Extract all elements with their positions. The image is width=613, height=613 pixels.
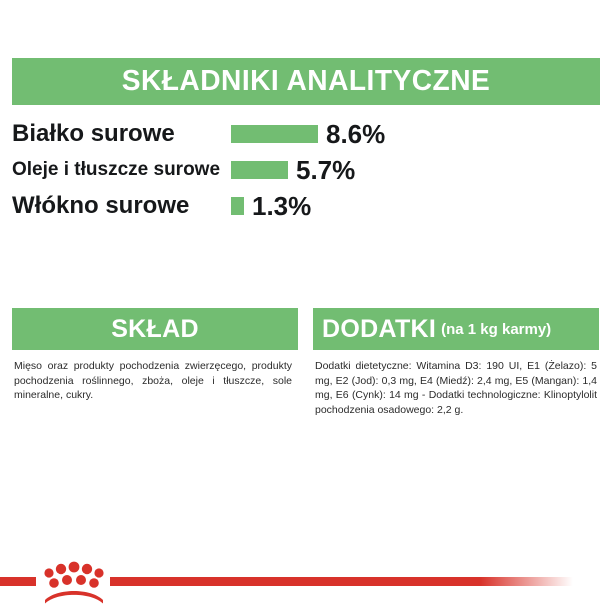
chart-row: Włókno surowe 1.3% xyxy=(12,190,600,226)
royal-canin-crown-icon xyxy=(41,560,107,604)
chart-value-label: 1.3% xyxy=(252,193,311,219)
composition-panel-title: SKŁAD xyxy=(111,315,199,344)
additives-panel-title: DODATKI xyxy=(322,315,436,344)
nutrition-info-panel: SKŁADNIKI ANALITYCZNE Białko surowe 8.6%… xyxy=(0,0,613,613)
chart-value-label: 5.7% xyxy=(296,157,355,183)
analytical-constituents-banner: SKŁADNIKI ANALITYCZNE xyxy=(12,58,600,105)
chart-row-label: Oleje i tłuszcze surowe xyxy=(12,154,222,186)
additives-panel-header: DODATKI (na 1 kg karmy) xyxy=(313,308,599,350)
additives-panel-subtitle: (na 1 kg karmy) xyxy=(441,321,551,338)
brand-footer xyxy=(0,556,613,613)
chart-bar xyxy=(231,197,244,215)
info-panels: SKŁAD Mięso oraz produkty pochodzenia zw… xyxy=(12,308,600,417)
composition-panel-text: Mięso oraz produkty pochodzenia zwierzęc… xyxy=(12,350,298,403)
chart-row-label: Włókno surowe xyxy=(12,190,222,222)
footer-rule-left xyxy=(0,577,36,586)
chart-bar-group: 5.7% xyxy=(231,154,355,186)
chart-bar xyxy=(231,161,288,179)
chart-value-label: 8.6% xyxy=(326,121,385,147)
analytical-constituents-title: SKŁADNIKI ANALITYCZNE xyxy=(122,65,491,98)
chart-row: Białko surowe 8.6% xyxy=(12,118,600,154)
composition-panel: SKŁAD Mięso oraz produkty pochodzenia zw… xyxy=(12,308,298,417)
chart-row-label: Białko surowe xyxy=(12,118,222,150)
chart-bar-group: 1.3% xyxy=(231,190,311,222)
additives-panel-text: Dodatki dietetyczne: Witamina D3: 190 UI… xyxy=(313,350,599,417)
additives-panel: DODATKI (na 1 kg karmy) Dodatki dietetyc… xyxy=(313,308,599,417)
footer-rule-right xyxy=(110,577,573,586)
chart-row: Oleje i tłuszcze surowe 5.7% xyxy=(12,154,600,190)
chart-bar-group: 8.6% xyxy=(231,118,385,150)
chart-bar xyxy=(231,125,318,143)
composition-panel-header: SKŁAD xyxy=(12,308,298,350)
analytical-bar-chart: Białko surowe 8.6% Oleje i tłuszcze suro… xyxy=(12,118,600,226)
